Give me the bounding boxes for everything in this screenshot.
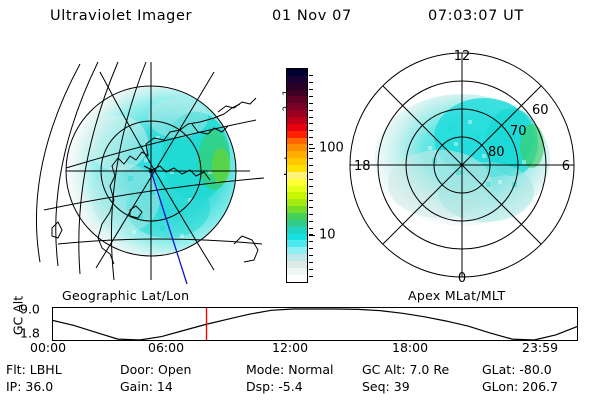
geographic-image-panel[interactable] bbox=[18, 48, 268, 288]
colorbar-minor-tick bbox=[309, 241, 313, 242]
strip-xtick-label: 00:00 bbox=[30, 340, 66, 355]
colorbar-minor-tick bbox=[309, 276, 313, 277]
polar-grid bbox=[350, 53, 574, 277]
strip-xtick-label: 12:00 bbox=[272, 340, 308, 355]
colorbar-minor-tick bbox=[309, 255, 313, 256]
strip-chart-plot bbox=[52, 307, 578, 341]
colorbar-minor-tick bbox=[309, 130, 313, 131]
colorbar-band bbox=[287, 227, 307, 234]
colorbar-band bbox=[287, 151, 307, 158]
colorbar-band bbox=[287, 96, 307, 103]
colorbar-minor-tick bbox=[309, 96, 313, 97]
colorbar-band bbox=[287, 124, 307, 131]
magnetic-dial-panel[interactable]: 12 18 6 0 60 70 80 bbox=[336, 42, 588, 292]
colorbar-band bbox=[287, 69, 307, 76]
colorbar-minor-tick bbox=[309, 165, 313, 166]
colorbar-minor-tick bbox=[309, 172, 313, 173]
status-field: Flt: LBHL bbox=[6, 362, 62, 377]
status-field: Seq: 39 bbox=[362, 379, 410, 394]
colorbar-minor-tick bbox=[309, 269, 313, 270]
colorbar-minor-tick bbox=[309, 248, 313, 249]
colorbar-minor-tick bbox=[309, 103, 313, 104]
colorbar-band bbox=[287, 165, 307, 172]
colorbar-minor-tick bbox=[309, 186, 313, 187]
colorbar-minor-tick bbox=[309, 228, 313, 229]
colorbar-band bbox=[287, 247, 307, 254]
mlat-ring-label-70: 70 bbox=[510, 124, 527, 139]
status-field: GLat: -80.0 bbox=[482, 362, 552, 377]
colorbar-minor-tick bbox=[309, 221, 313, 222]
mlt-label-12: 12 bbox=[454, 49, 471, 64]
colorbar-minor-tick bbox=[309, 158, 313, 159]
colorbar-band bbox=[287, 158, 307, 165]
colorbar-band bbox=[287, 144, 307, 151]
colorbar-minor-tick bbox=[309, 75, 313, 76]
colorbar-minor-tick bbox=[309, 262, 313, 263]
colorbar-band bbox=[287, 138, 307, 145]
observation-date: 01 Nov 07 bbox=[272, 8, 352, 24]
colorbar-minor-tick bbox=[309, 200, 313, 201]
mlat-ring-label-60: 60 bbox=[532, 103, 549, 118]
colorbar-band bbox=[287, 131, 307, 138]
colorbar-band bbox=[287, 240, 307, 247]
magnetic-polar-svg: 12 18 6 0 60 70 80 bbox=[336, 42, 588, 292]
gc-altitude-strip-chart[interactable]: GC Alt 9.0 1.8 00:0006:0012:0018:0023:59 bbox=[0, 300, 600, 358]
colorbar-minor-tick bbox=[309, 234, 313, 235]
strip-ytick-low: 1.8 bbox=[20, 326, 40, 341]
colorbar-band bbox=[287, 199, 307, 206]
header-bar: Ultraviolet Imager 01 Nov 07 07:03:07 UT bbox=[0, 6, 600, 30]
colorbar-band bbox=[287, 275, 307, 282]
strip-xtick-label: 23:59 bbox=[522, 340, 558, 355]
colorbar-minor-tick bbox=[309, 117, 313, 118]
colorbar-minor-tick bbox=[309, 193, 313, 194]
mlt-label-0: 0 bbox=[458, 271, 466, 286]
strip-ytick-high: 9.0 bbox=[20, 302, 40, 317]
colorbar-band bbox=[287, 213, 307, 220]
status-field: IP: 36.0 bbox=[6, 379, 53, 394]
colorbar-band bbox=[287, 192, 307, 199]
status-field: Dsp: -5.4 bbox=[246, 379, 303, 394]
colorbar-band bbox=[287, 172, 307, 179]
colorbar-minor-tick bbox=[309, 89, 313, 90]
status-field: Gain: 14 bbox=[120, 379, 173, 394]
mlt-label-6: 6 bbox=[562, 159, 570, 174]
colorbar-band bbox=[287, 268, 307, 275]
colorbar-band bbox=[287, 103, 307, 110]
colorbar-minor-tick bbox=[309, 82, 313, 83]
status-field: GLon: 206.7 bbox=[482, 379, 558, 394]
colorbar-band bbox=[287, 234, 307, 241]
colorbar-band bbox=[287, 90, 307, 97]
mlat-ring-label-80: 80 bbox=[488, 145, 505, 160]
status-bar: Flt: LBHLDoor: OpenMode: NormalGC Alt: 7… bbox=[0, 362, 600, 398]
colorbar-band bbox=[287, 261, 307, 268]
colorbar-minor-tick bbox=[309, 179, 313, 180]
pole-center-marker bbox=[149, 169, 153, 173]
observation-time: 07:03:07 UT bbox=[428, 8, 524, 24]
colorbar-band bbox=[287, 220, 307, 227]
colorbar-band bbox=[287, 76, 307, 83]
instrument-title: Ultraviolet Imager bbox=[50, 8, 192, 24]
colorbar-minor-tick bbox=[309, 144, 313, 145]
strip-xtick-label: 06:00 bbox=[148, 340, 184, 355]
status-field: Door: Open bbox=[120, 362, 191, 377]
status-field: GC Alt: 7.0 Re bbox=[362, 362, 449, 377]
colorbar-band bbox=[287, 254, 307, 261]
status-field: Mode: Normal bbox=[246, 362, 333, 377]
altitude-trace bbox=[52, 309, 578, 340]
colorbar-band bbox=[287, 117, 307, 124]
colorbar-band bbox=[287, 83, 307, 90]
geographic-projection-svg bbox=[18, 48, 268, 288]
colorbar-band bbox=[287, 110, 307, 117]
colorbar-band bbox=[287, 186, 307, 193]
strip-xtick-label: 18:00 bbox=[392, 340, 428, 355]
colorbar-gradient bbox=[286, 68, 308, 283]
colorbar-band bbox=[287, 206, 307, 213]
colorbar-band bbox=[287, 179, 307, 186]
mlt-label-18: 18 bbox=[354, 159, 371, 174]
colorbar-tick bbox=[309, 148, 315, 149]
colorbar-minor-tick bbox=[309, 151, 313, 152]
colorbar-minor-tick bbox=[309, 137, 313, 138]
colorbar-minor-tick bbox=[309, 123, 313, 124]
colorbar-tick-label: 10 bbox=[319, 228, 336, 243]
colorbar-minor-tick bbox=[309, 214, 313, 215]
colorbar-minor-tick bbox=[309, 207, 313, 208]
colorbar-minor-tick bbox=[309, 110, 313, 111]
